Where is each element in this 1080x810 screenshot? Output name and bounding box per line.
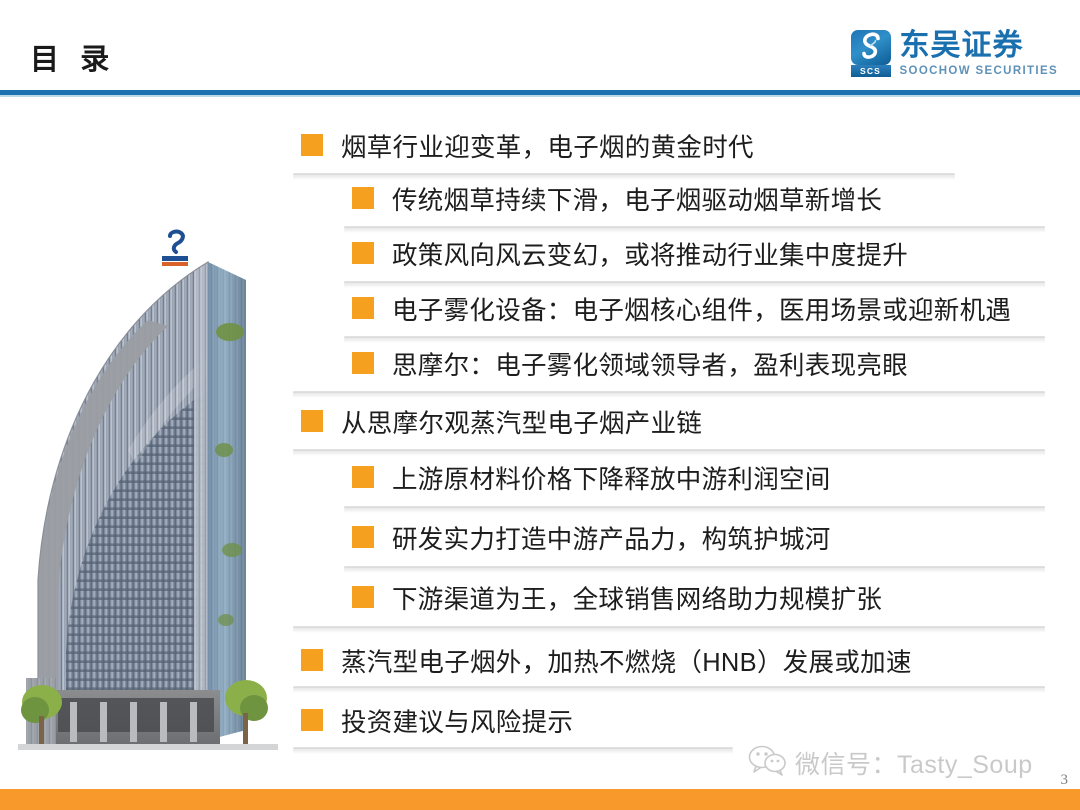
toc-item-1[interactable]: 烟草行业迎变革，电子烟的黄金时代 xyxy=(0,116,1080,174)
toc-item-9[interactable]: 下游渠道为王，全球销售网络助力规模扩张 xyxy=(0,570,1080,628)
footer-accent-bar xyxy=(0,789,1080,810)
toc-item-3[interactable]: 政策风向风云变幻，或将推动行业集中度提升 xyxy=(0,226,1080,284)
toc-bullet-icon xyxy=(301,134,323,156)
logo-mark: SCS xyxy=(851,30,891,78)
toc-bullet-icon xyxy=(352,242,374,264)
toc-bullet-icon xyxy=(301,410,323,432)
toc-bullet-icon xyxy=(301,649,323,671)
logo-scs-text: SCS xyxy=(851,65,891,77)
toc-bullet-icon xyxy=(301,709,323,731)
toc-item-label: 下游渠道为王，全球销售网络助力规模扩张 xyxy=(392,579,882,616)
logo-name-en: SOOCHOW SECURITIES xyxy=(900,65,1058,77)
toc-item-label: 烟草行业迎变革，电子烟的黄金时代 xyxy=(341,127,754,164)
toc-divider xyxy=(344,506,1045,509)
company-logo: SCS 东吴证券 SOOCHOW SECURITIES xyxy=(851,30,1058,82)
toc-bullet-icon xyxy=(352,466,374,488)
toc-divider xyxy=(293,747,733,750)
toc-item-8[interactable]: 研发实力打造中游产品力，构筑护城河 xyxy=(0,510,1080,568)
toc-bullet-icon xyxy=(352,297,374,319)
toc-bullet-icon xyxy=(352,187,374,209)
watermark-text: 微信号：Tasty_Soup xyxy=(795,745,1033,781)
toc-item-label: 政策风向风云变幻，或将推动行业集中度提升 xyxy=(392,235,908,272)
toc-bullet-icon xyxy=(352,526,374,548)
toc-item-10[interactable]: 蒸汽型电子烟外，加热不燃烧（HNB）发展或加速 xyxy=(0,630,1080,688)
logo-badge-icon xyxy=(851,30,891,65)
toc-divider xyxy=(293,686,1045,689)
toc-item-label: 电子雾化设备：电子烟核心组件，医用场景或迎新机遇 xyxy=(392,290,1011,327)
slide: 目 录 SCS 东吴证券 SOOCHOW SECURITIES xyxy=(0,0,1080,810)
toc-item-2[interactable]: 传统烟草持续下滑，电子烟驱动烟草新增长 xyxy=(0,171,1080,229)
toc-bullet-icon xyxy=(352,586,374,608)
wechat-icon xyxy=(748,745,788,781)
toc-item-label: 从思摩尔观蒸汽型电子烟产业链 xyxy=(341,403,702,440)
logo-text-block: 东吴证券 SOOCHOW SECURITIES xyxy=(900,30,1058,77)
toc-item-label: 思摩尔：电子雾化领域领导者，盈利表现亮眼 xyxy=(392,345,908,382)
page-number: 3 xyxy=(1061,772,1069,789)
toc-item-label: 研发实力打造中游产品力，构筑护城河 xyxy=(392,519,831,556)
toc-item-5[interactable]: 思摩尔：电子雾化领域领导者，盈利表现亮眼 xyxy=(0,336,1080,394)
toc-item-11[interactable]: 投资建议与风险提示 xyxy=(0,690,1080,748)
table-of-contents: 烟草行业迎变革，电子烟的黄金时代 传统烟草持续下滑，电子烟驱动烟草新增长 政策风… xyxy=(0,96,1080,766)
toc-item-label: 传统烟草持续下滑，电子烟驱动烟草新增长 xyxy=(392,180,882,217)
toc-divider xyxy=(344,566,1045,569)
toc-item-6[interactable]: 从思摩尔观蒸汽型电子烟产业链 xyxy=(0,391,1080,449)
toc-divider xyxy=(293,626,1045,629)
toc-item-7[interactable]: 上游原材料价格下降释放中游利润空间 xyxy=(0,450,1080,508)
toc-item-label: 蒸汽型电子烟外，加热不燃烧（HNB）发展或加速 xyxy=(341,642,912,679)
toc-item-label: 上游原材料价格下降释放中游利润空间 xyxy=(392,459,831,496)
toc-item-4[interactable]: 电子雾化设备：电子烟核心组件，医用场景或迎新机遇 xyxy=(0,281,1080,339)
toc-bullet-icon xyxy=(352,352,374,374)
wechat-watermark: 微信号：Tasty_Soup xyxy=(748,745,1033,781)
toc-item-label: 投资建议与风险提示 xyxy=(341,702,573,739)
page-title: 目 录 xyxy=(30,36,116,78)
slide-header: 目 录 SCS 东吴证券 SOOCHOW SECURITIES xyxy=(0,0,1080,96)
logo-name-cn: 东吴证券 xyxy=(900,30,1058,62)
